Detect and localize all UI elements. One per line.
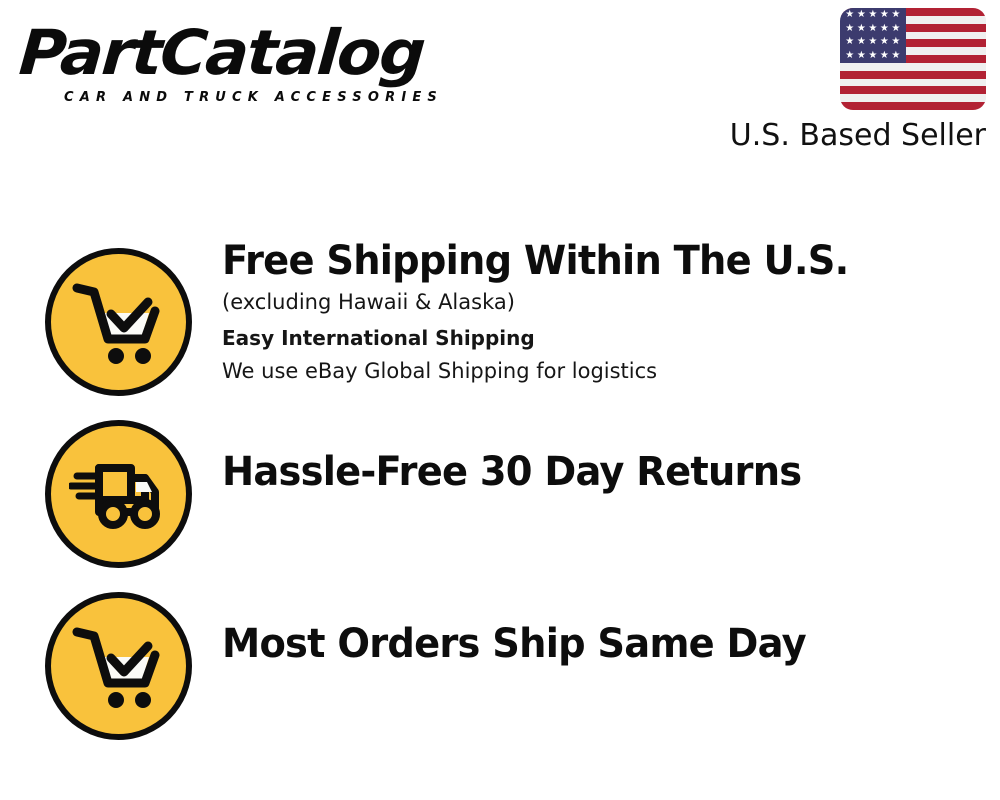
feature-subline: We use eBay Global Shipping for logistic…: [222, 355, 990, 387]
feature-row: Most Orders Ship Same Day: [0, 592, 1000, 742]
shopping-cart-check-icon: [45, 592, 192, 740]
us-flag-icon: ★★★★★ ★★★★★ ★★★★★ ★★★★★: [840, 8, 986, 110]
us-based-seller-label: U.S. Based Seller: [540, 118, 986, 154]
page-header: PartCatalog CAR AND TRUCK ACCESSORIES ★★…: [0, 0, 1000, 170]
delivery-truck-icon: [45, 420, 192, 568]
feature-title: Free Shipping Within The U.S.: [222, 236, 959, 286]
brand-wordmark: PartCatalog: [17, 18, 511, 88]
feature-title: Hassle-Free 30 Day Returns: [222, 447, 959, 497]
brand-tagline: CAR AND TRUCK ACCESSORIES: [64, 90, 492, 105]
flag-canton: ★★★★★ ★★★★★ ★★★★★ ★★★★★: [840, 8, 906, 63]
feature-text: Free Shipping Within The U.S. (excluding…: [222, 236, 990, 387]
feature-text: Most Orders Ship Same Day: [222, 619, 990, 669]
feature-row: Hassle-Free 30 Day Returns: [0, 420, 1000, 570]
feature-subline: (excluding Hawaii & Alaska): [222, 286, 990, 318]
feature-title: Most Orders Ship Same Day: [222, 619, 959, 669]
shopping-cart-check-icon: [45, 248, 192, 396]
feature-subline: Easy International Shipping: [222, 322, 990, 355]
feature-text: Hassle-Free 30 Day Returns: [222, 447, 990, 497]
feature-row: Free Shipping Within The U.S. (excluding…: [0, 240, 1000, 405]
brand-logo[interactable]: PartCatalog CAR AND TRUCK ACCESSORIES: [22, 18, 492, 113]
